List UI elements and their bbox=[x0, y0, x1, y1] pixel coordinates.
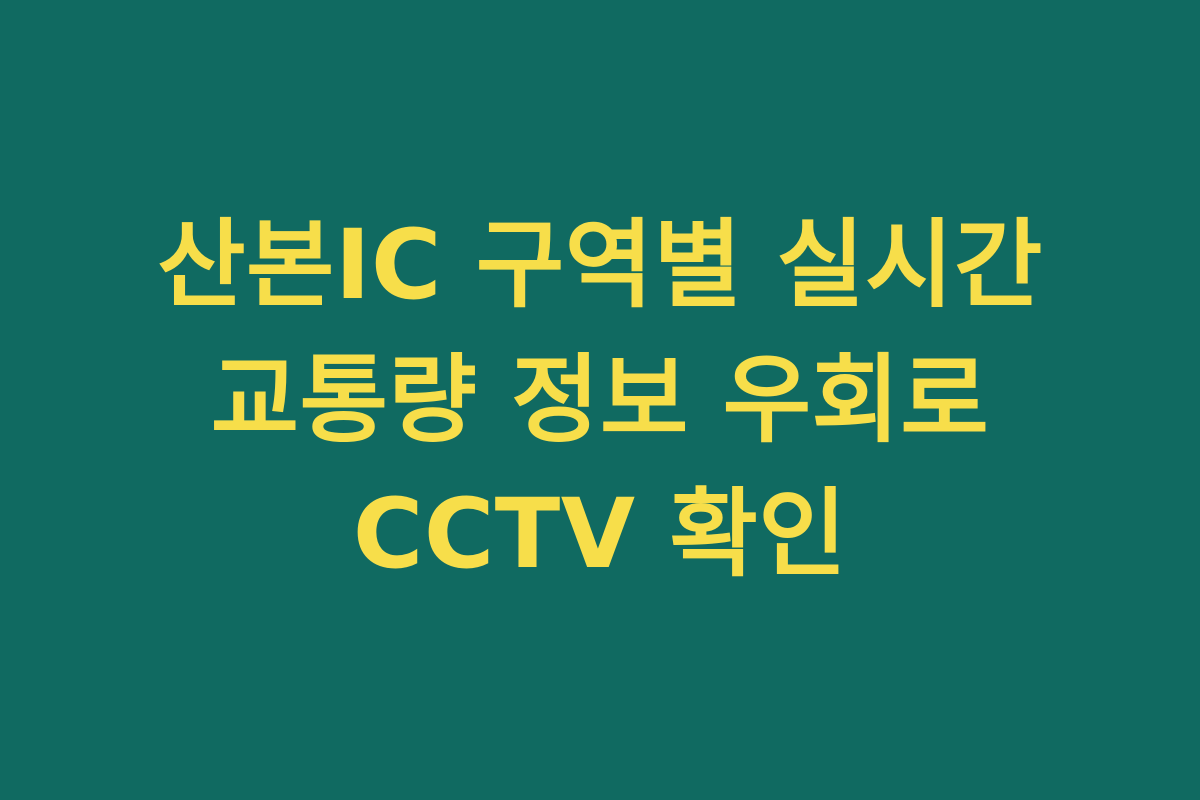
page-title: 산본IC 구역별 실시간 교통량 정보 우회로 CCTV 확인 bbox=[90, 198, 1110, 601]
title-banner: 산본IC 구역별 실시간 교통량 정보 우회로 CCTV 확인 bbox=[0, 0, 1200, 800]
